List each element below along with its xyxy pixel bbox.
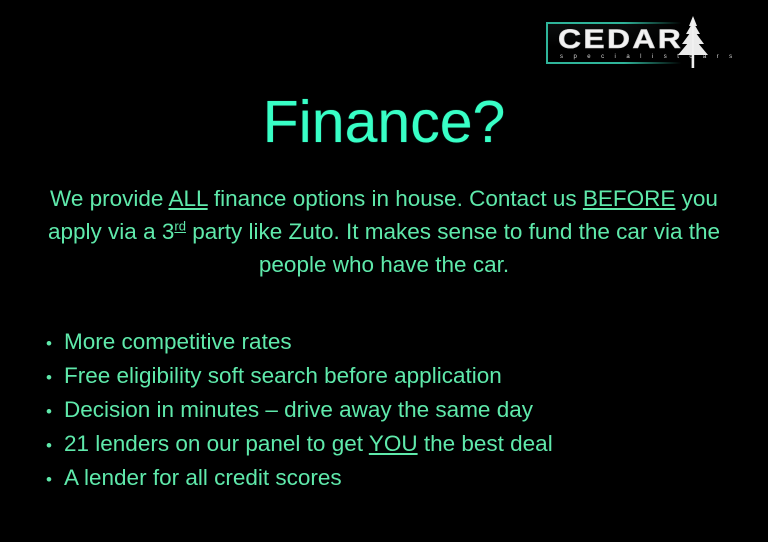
- list-item-text-post: the best deal: [418, 431, 553, 456]
- list-item: • A lender for all credit scores: [46, 461, 746, 495]
- list-item-text-pre: 21 lenders on our panel to get: [64, 431, 369, 456]
- logo-wordmark: CEDAR: [558, 26, 683, 53]
- list-item-label: 21 lenders on our panel to get YOU the b…: [64, 427, 553, 461]
- para-segment-2: finance options in house. Contact us: [208, 186, 583, 211]
- slide-root: CEDAR s p e c i a l i s t c a r s Financ…: [0, 0, 768, 542]
- slide-title: Finance?: [0, 92, 768, 154]
- intro-paragraph: We provide ALL finance options in house.…: [22, 182, 746, 281]
- bullet-marker-icon: •: [46, 395, 64, 429]
- pine-tree-icon: [666, 14, 720, 72]
- list-item: • 21 lenders on our panel to get YOU the…: [46, 427, 746, 461]
- benefits-list: • More competitive rates • Free eligibil…: [46, 325, 746, 495]
- cedar-logo: CEDAR s p e c i a l i s t c a r s: [546, 18, 728, 70]
- bullet-marker-icon: •: [46, 463, 64, 497]
- para-segment-4: party like Zuto. It makes sense to fund …: [186, 219, 720, 277]
- bullet-marker-icon: •: [46, 327, 64, 361]
- para-emphasis-all: ALL: [168, 186, 207, 211]
- list-item: • More competitive rates: [46, 325, 746, 359]
- list-item-label: More competitive rates: [64, 325, 292, 359]
- list-item-label: Free eligibility soft search before appl…: [64, 359, 502, 393]
- list-item-label: A lender for all credit scores: [64, 461, 342, 495]
- para-segment-1: We provide: [50, 186, 168, 211]
- para-emphasis-before: BEFORE: [583, 186, 676, 211]
- bullet-marker-icon: •: [46, 429, 64, 463]
- list-item-label: Decision in minutes – drive away the sam…: [64, 393, 533, 427]
- list-item-emphasis-you: YOU: [369, 431, 418, 456]
- list-item: • Free eligibility soft search before ap…: [46, 359, 746, 393]
- bullet-marker-icon: •: [46, 361, 64, 395]
- list-item: • Decision in minutes – drive away the s…: [46, 393, 746, 427]
- para-ordinal-suffix: rd: [174, 219, 186, 234]
